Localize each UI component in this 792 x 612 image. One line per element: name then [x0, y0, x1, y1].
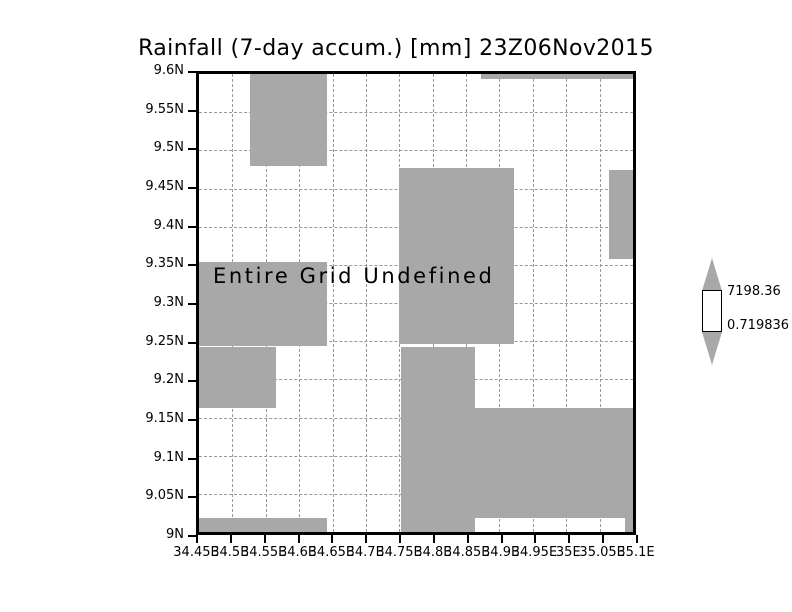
y-axis-label: 9.35N	[124, 256, 184, 271]
y-axis-label: 9.15N	[124, 411, 184, 426]
y-axis-label: 9.5N	[124, 140, 184, 155]
colorbar-low-value: 0.719836	[727, 318, 789, 333]
x-axis-tick	[298, 535, 300, 543]
x-axis-tick	[636, 535, 638, 543]
y-axis-tick	[188, 458, 196, 460]
x-axis-tick	[230, 535, 232, 543]
y-axis-label: 9.1N	[124, 450, 184, 465]
x-axis-tick	[602, 535, 604, 543]
x-axis-tick	[331, 535, 333, 543]
x-axis-label: 35E	[556, 545, 581, 560]
colorbar-arrow-down-icon	[702, 332, 722, 365]
colorbar-box	[702, 290, 722, 332]
y-axis-label: 9.45N	[124, 179, 184, 194]
plot-area: Entire Grid Undefined	[196, 71, 636, 535]
undefined-region	[250, 74, 326, 166]
y-axis-label: 9.25N	[124, 334, 184, 349]
y-axis-tick	[188, 71, 196, 73]
y-axis-label: 9.05N	[124, 488, 184, 503]
undefined-grid-message: Entire Grid Undefined	[213, 264, 494, 288]
y-axis-label: 9.3N	[124, 295, 184, 310]
colorbar-legend: 7198.36 0.719836	[699, 258, 725, 364]
y-axis-label: 9.4N	[124, 218, 184, 233]
y-axis-tick	[188, 226, 196, 228]
x-axis-tick	[196, 535, 198, 543]
y-axis-tick	[188, 419, 196, 421]
y-axis-label: 9.55N	[124, 102, 184, 117]
y-axis-label: 9.2N	[124, 372, 184, 387]
undefined-region	[609, 170, 633, 259]
x-axis-tick	[433, 535, 435, 543]
x-axis-tick	[365, 535, 367, 543]
colorbar-high-value: 7198.36	[727, 284, 781, 299]
y-axis-tick	[188, 110, 196, 112]
x-axis-tick	[568, 535, 570, 543]
undefined-region	[481, 74, 633, 79]
undefined-region	[625, 518, 633, 532]
y-axis-tick	[188, 187, 196, 189]
undefined-region	[401, 408, 633, 518]
undefined-region	[401, 518, 476, 532]
y-axis-label: 9N	[124, 527, 184, 542]
y-axis-tick	[188, 496, 196, 498]
plot-canvas: Entire Grid Undefined	[199, 74, 633, 532]
x-axis-label: 35.1E	[617, 545, 654, 560]
undefined-region	[199, 518, 327, 532]
x-axis-label: 34.95E	[512, 545, 557, 560]
y-axis-tick	[188, 303, 196, 305]
x-axis-tick	[501, 535, 503, 543]
page-title: Rainfall (7-day accum.) [mm] 23Z06Nov201…	[0, 36, 792, 61]
x-axis-tick	[264, 535, 266, 543]
y-axis-label: 9.6N	[124, 63, 184, 78]
undefined-region	[399, 168, 514, 344]
undefined-region	[401, 347, 476, 409]
y-axis-tick	[188, 148, 196, 150]
x-axis-tick	[467, 535, 469, 543]
x-axis-tick	[534, 535, 536, 543]
y-axis-tick	[188, 380, 196, 382]
y-axis-tick	[188, 342, 196, 344]
y-axis-tick	[188, 264, 196, 266]
colorbar-arrow-up-icon	[702, 258, 722, 291]
undefined-region	[199, 347, 276, 409]
y-axis-tick	[188, 535, 196, 537]
x-axis-tick	[399, 535, 401, 543]
